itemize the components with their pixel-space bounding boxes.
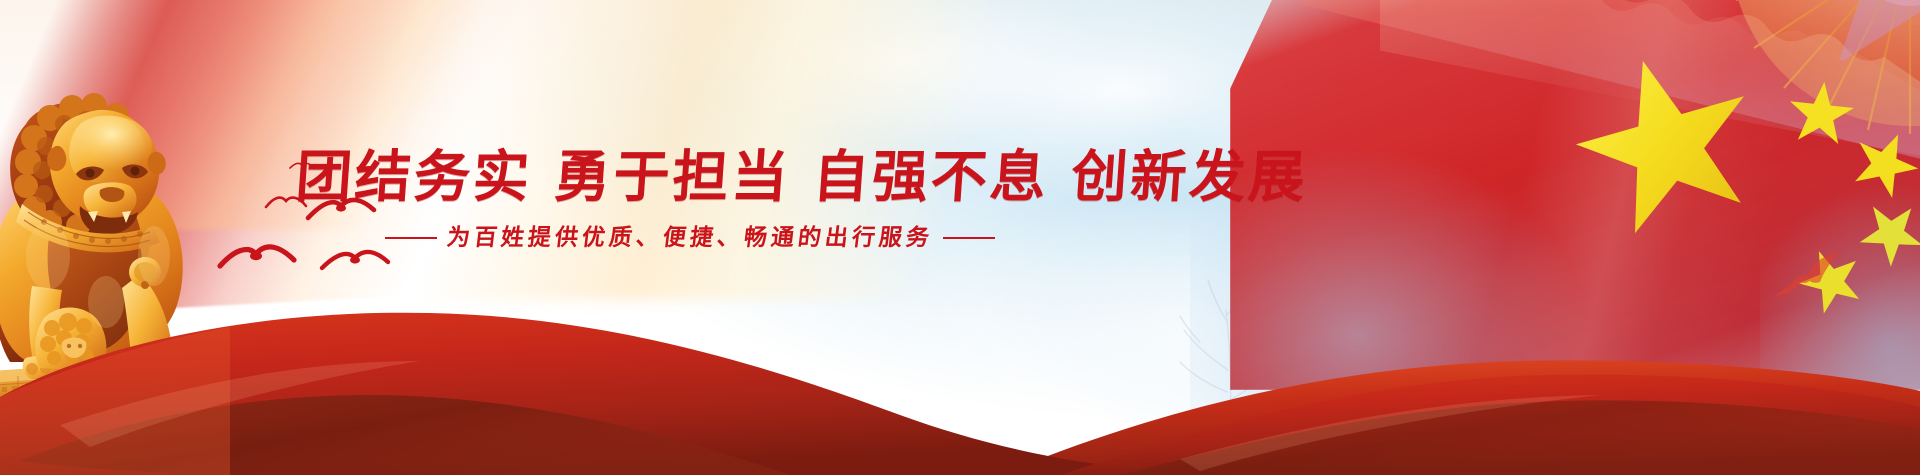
banner-root: 团结务实 勇于担当 自强不息 创新发展 为百姓提供优质、便捷、畅通的出行服务 xyxy=(0,0,1920,475)
flag-small-star-1-icon xyxy=(1786,79,1856,149)
slogan-main-text: 团结务实 勇于担当 自强不息 创新发展 xyxy=(294,146,1058,210)
subtitle-dash-right xyxy=(943,237,995,239)
flag-large-star-icon xyxy=(1572,50,1762,240)
slogan-subtitle-text: 为百姓提供优质、便捷、畅通的出行服务 xyxy=(445,224,934,252)
violet-star-overlay xyxy=(1790,0,1920,60)
subtitle-dash-left xyxy=(385,237,437,239)
slogan-block: 团结务实 勇于担当 自强不息 创新发展 为百姓提供优质、便捷、畅通的出行服务 xyxy=(296,146,1056,252)
red-silk-wave xyxy=(0,275,1920,475)
flag-small-star-3-icon xyxy=(1858,199,1920,267)
flag-small-star-2-icon xyxy=(1850,129,1920,199)
slogan-subtitle-row: 为百姓提供优质、便捷、畅通的出行服务 xyxy=(324,224,1056,252)
